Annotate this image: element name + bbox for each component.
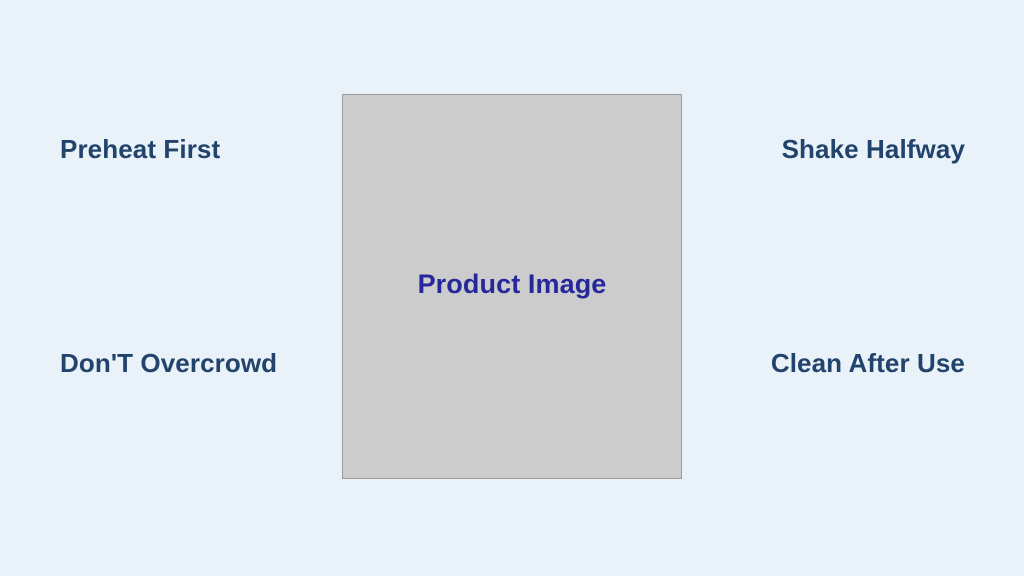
product-image-placeholder: Product Image <box>342 94 682 479</box>
callout-clean-after-use: Clean After Use <box>693 340 965 386</box>
product-feature-slide: Preheat First Shake Halfway Product Imag… <box>0 0 1024 576</box>
callout-preheat-first: Preheat First <box>60 126 332 172</box>
callout-shake-halfway: Shake Halfway <box>693 126 965 172</box>
product-image-label: Product Image <box>418 268 607 300</box>
callout-dont-overcrowd: Don'T Overcrowd <box>60 340 332 386</box>
